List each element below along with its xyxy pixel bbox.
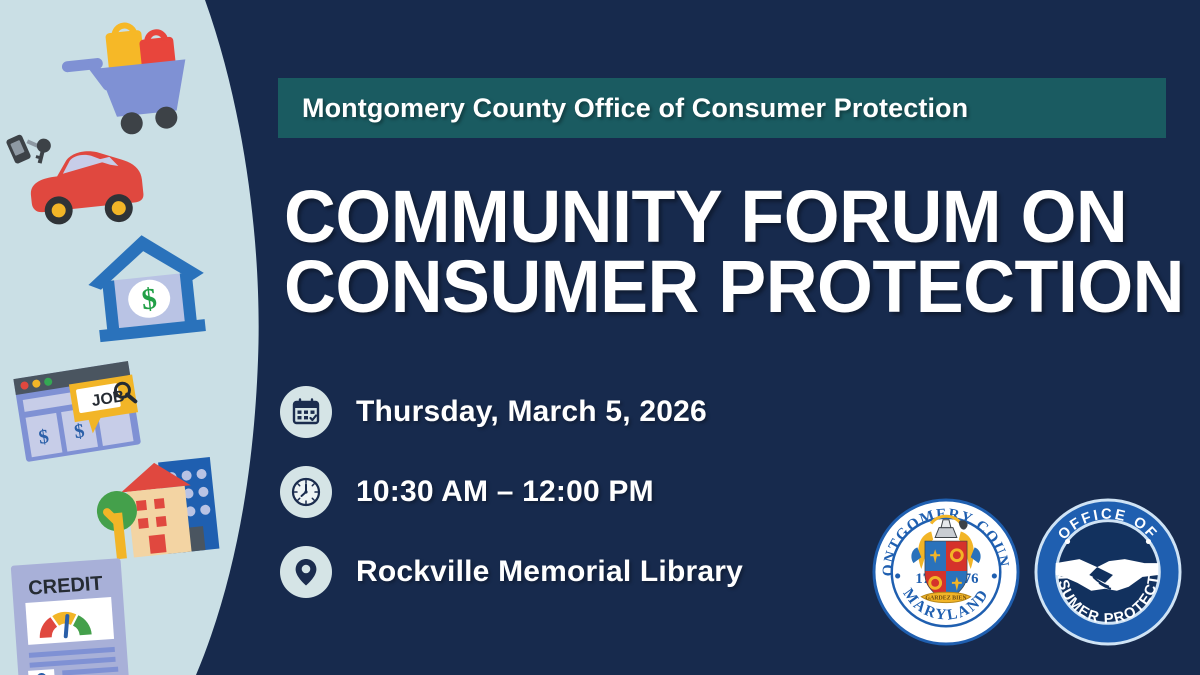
event-location-row: Rockville Memorial Library xyxy=(280,532,743,612)
organization-name: Montgomery County Office of Consumer Pro… xyxy=(278,93,968,124)
credit-report-illustration: CREDIT xyxy=(11,558,130,675)
event-details: Thursday, March 5, 2026 xyxy=(280,372,743,612)
page-title: COMMUNITY FORUM ON CONSUMER PROTECTION xyxy=(284,182,1167,323)
montgomery-county-seal: MONTGOMERY COUNTY MARYLAND 17 76 xyxy=(872,498,1020,646)
seal-group: MONTGOMERY COUNTY MARYLAND 17 76 xyxy=(872,498,1182,646)
clock-icon xyxy=(280,466,332,518)
map-pin-icon xyxy=(280,546,332,598)
event-date-text: Thursday, March 5, 2026 xyxy=(356,395,707,429)
office-of-consumer-protection-seal: OFFICE OF CONSUMER PROTECTION xyxy=(1034,498,1182,646)
event-date-row: Thursday, March 5, 2026 xyxy=(280,372,743,452)
event-time-row: 10:30 AM – 12:00 PM xyxy=(280,452,743,532)
illustration-panel: $ $ $ JOB xyxy=(0,0,300,675)
event-location-text: Rockville Memorial Library xyxy=(356,555,743,589)
page-title-line-1: COMMUNITY FORUM ON xyxy=(284,182,1167,252)
content-column: Montgomery County Office of Consumer Pro… xyxy=(272,0,1200,675)
page-title-line-2: CONSUMER PROTECTION xyxy=(284,252,1167,322)
event-time-text: 10:30 AM – 12:00 PM xyxy=(356,475,654,509)
organization-ribbon: Montgomery County Office of Consumer Pro… xyxy=(278,78,1166,138)
event-flyer: $ $ $ JOB xyxy=(0,0,1200,675)
calendar-icon xyxy=(280,386,332,438)
seal-motto: GARDEZ BIEN xyxy=(925,596,967,602)
